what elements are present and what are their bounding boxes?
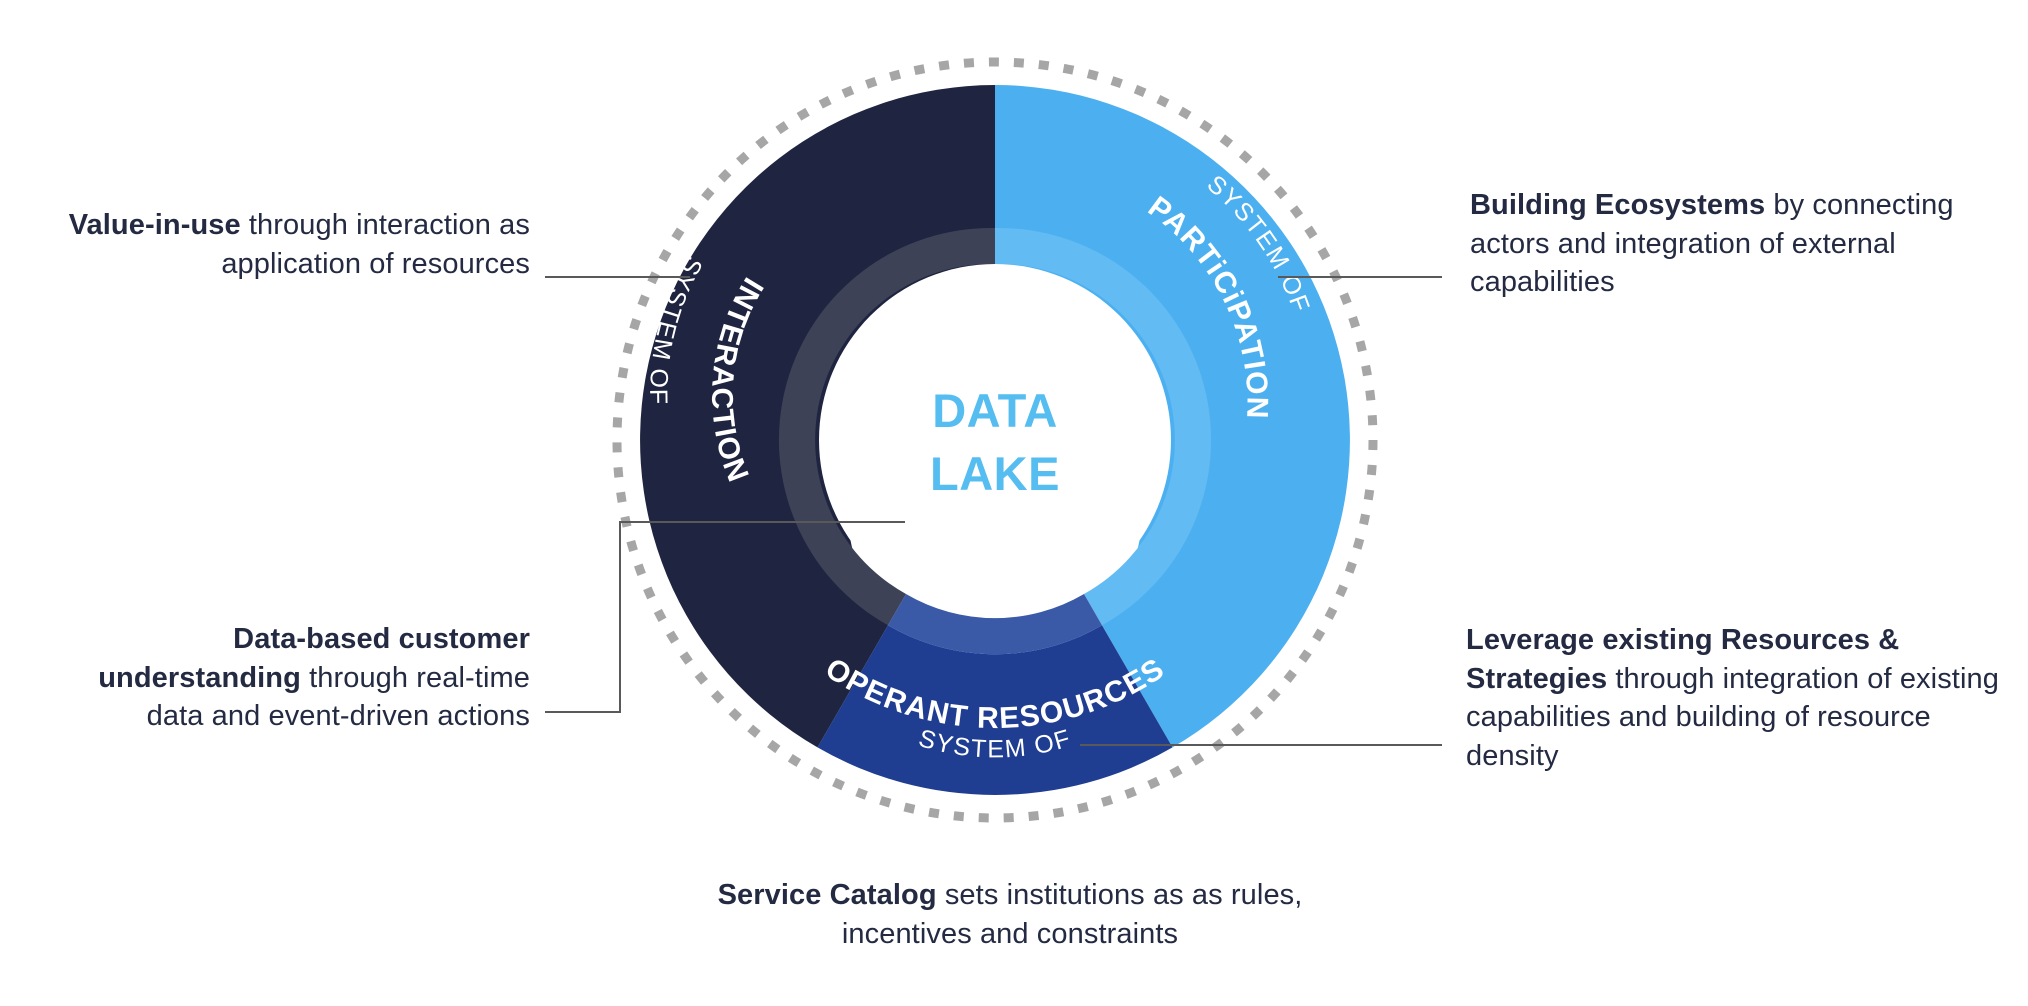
callout-service-catalog-bold: Service Catalog xyxy=(718,879,937,911)
inner-accent-ring xyxy=(779,228,1211,654)
callout-building-ecosystems-bold: Building Ecosystems xyxy=(1470,189,1765,221)
center-label-line2: LAKE xyxy=(930,447,1060,500)
callout-value-in-use: Value-in-use through interaction as appl… xyxy=(40,206,530,283)
callout-value-in-use-rest: through interaction as application of re… xyxy=(221,209,530,280)
callout-value-in-use-bold: Value-in-use xyxy=(69,209,241,241)
diagram-canvas: SYSTEM OF INTERACTION SYSTEM OF PARTiCiP… xyxy=(0,0,2028,1006)
center-label-line1: DATA xyxy=(932,384,1058,437)
callout-leverage-resources: Leverage existing Resources & Strategies… xyxy=(1466,621,2006,775)
callout-building-ecosystems: Building Ecosystems by connecting actors… xyxy=(1470,186,2000,302)
data-lake-wheel: SYSTEM OF INTERACTION SYSTEM OF PARTiCiP… xyxy=(0,0,2028,1006)
callout-service-catalog: Service Catalog sets institutions as as … xyxy=(660,876,1360,953)
callout-data-based-understanding: Data-based customer understanding throug… xyxy=(40,620,530,736)
